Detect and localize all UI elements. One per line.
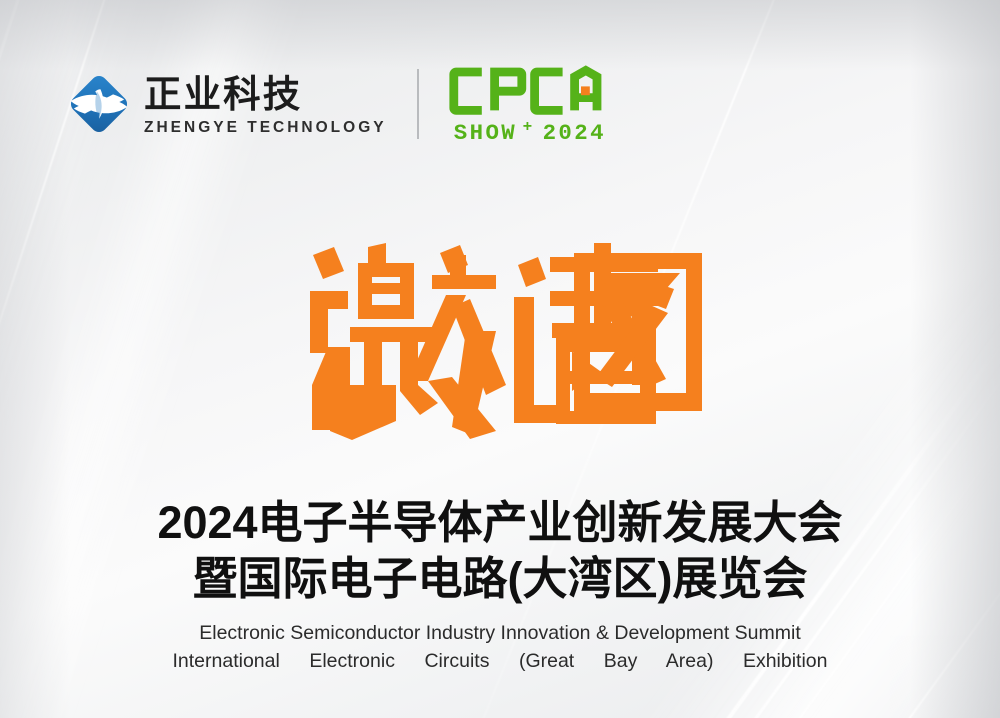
zhengye-english-name: ZHENGYE TECHNOLOGY bbox=[144, 120, 387, 136]
title-english-line-1: Electronic Semiconductor Industry Innova… bbox=[0, 620, 1000, 646]
svg-text:2024: 2024 bbox=[542, 120, 605, 146]
invitation-poster: 正业科技 ZHENGYE TECHNOLOGY bbox=[0, 0, 1000, 718]
top-vignette bbox=[0, 0, 1000, 70]
invitation-glyphs bbox=[300, 235, 710, 445]
cpca-logo-icon: SHOW + 2024 bbox=[445, 62, 613, 146]
hero-invitation-title bbox=[300, 235, 710, 445]
title-chinese-line-2: 暨国际电子电路(大湾区)展览会 bbox=[0, 556, 1000, 602]
logo-bar: 正业科技 ZHENGYE TECHNOLOGY bbox=[62, 62, 613, 146]
title-block: 2024电子半导体产业创新发展大会 暨国际电子电路(大湾区)展览会 Electr… bbox=[0, 500, 1000, 674]
zhengye-chinese-name: 正业科技 bbox=[144, 73, 375, 117]
logo-divider bbox=[417, 69, 419, 139]
title-chinese-line-1: 2024电子半导体产业创新发展大会 bbox=[0, 500, 1000, 546]
title-english-line-2: International Electronic Circuits (Great… bbox=[173, 648, 828, 674]
svg-text:SHOW: SHOW bbox=[453, 120, 516, 146]
zhengye-wordmark: 正业科技 ZHENGYE TECHNOLOGY bbox=[144, 73, 387, 136]
cpca-show-logo: SHOW + 2024 bbox=[445, 62, 613, 146]
zhengye-swirl-logo-icon bbox=[62, 67, 136, 141]
svg-text:+: + bbox=[522, 118, 532, 136]
svg-text:正业科技: 正业科技 bbox=[144, 73, 302, 115]
